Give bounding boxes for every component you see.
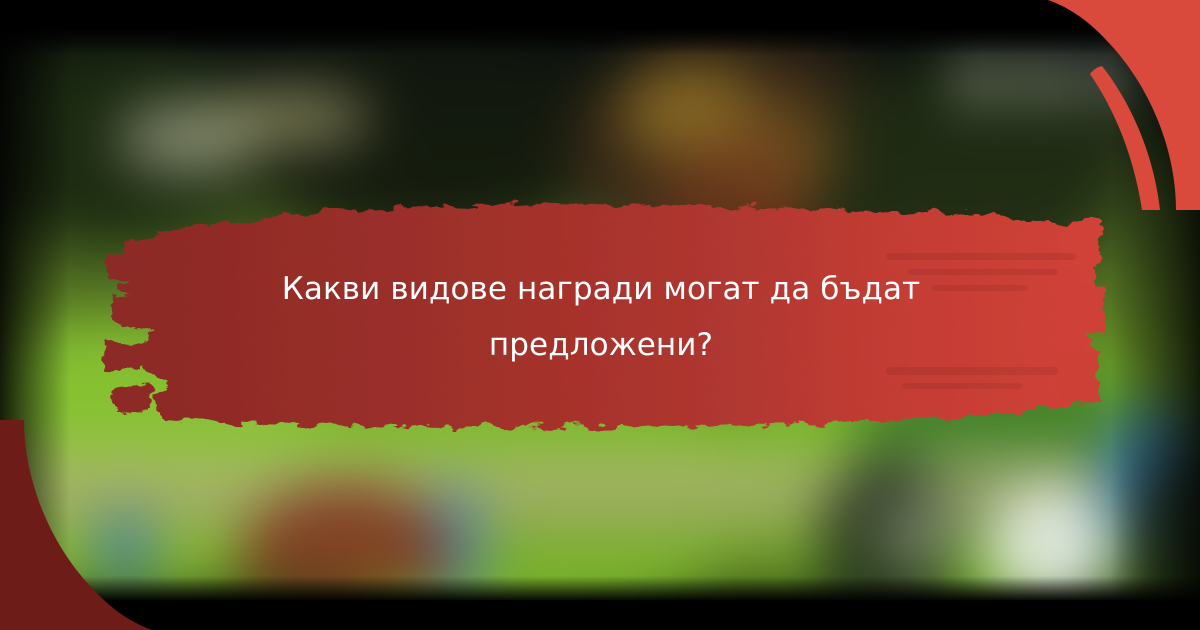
letterbox-fade-top bbox=[0, 29, 1200, 55]
vignette-right bbox=[1110, 0, 1200, 630]
headline-container: Какви видове награди могат да бъдат пред… bbox=[96, 193, 1106, 441]
letterbox-bar-top bbox=[0, 0, 1200, 29]
background-blob-highlight-c bbox=[955, 55, 1004, 102]
vignette-left bbox=[0, 0, 70, 630]
poster-card: Какви видове награди могат да бъдат пред… bbox=[0, 0, 1200, 630]
background-blob-blue-left bbox=[97, 509, 154, 585]
background-blob-highlight-b bbox=[213, 87, 372, 148]
letterbox-fade-bottom bbox=[0, 576, 1200, 600]
letterbox-bar-bottom bbox=[0, 600, 1200, 630]
page-title: Какви видове награди могат да бъдат пред… bbox=[251, 261, 951, 374]
background-blob-dark-figure-b bbox=[881, 498, 955, 572]
background-blob-highlight-d bbox=[1022, 55, 1071, 102]
